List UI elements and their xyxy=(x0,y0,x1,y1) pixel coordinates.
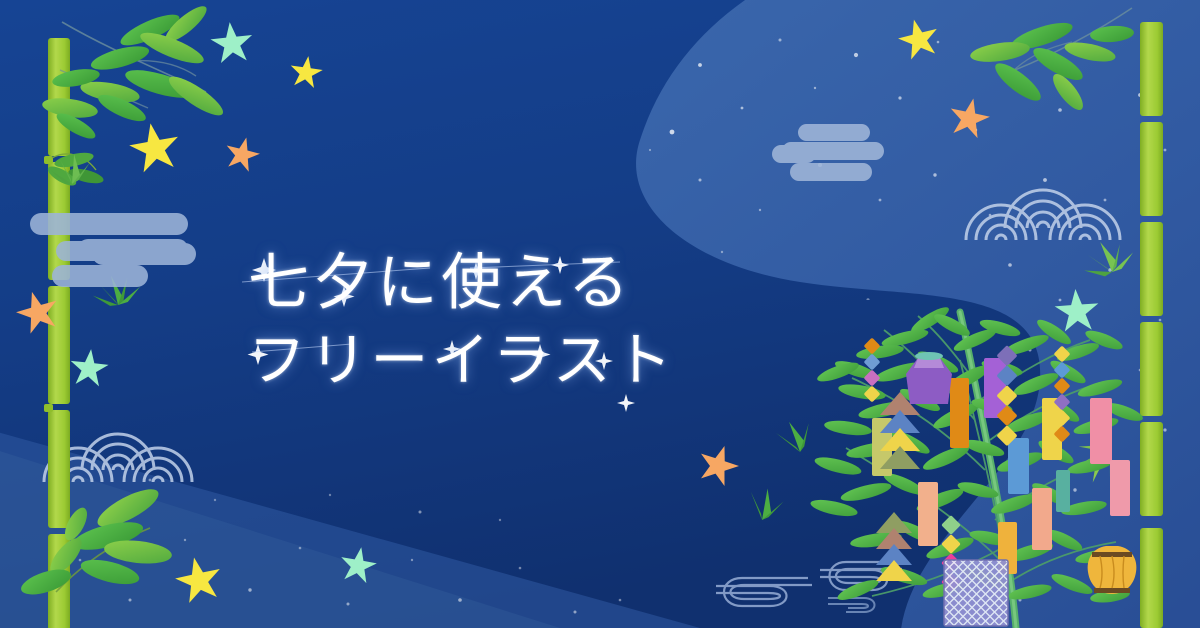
title-sparkle-layer xyxy=(0,0,1200,628)
title-sparkles xyxy=(248,256,636,412)
tanabata-banner: 七夕に使える フリーイラスト xyxy=(0,0,1200,628)
title-light-streaks xyxy=(242,262,620,352)
